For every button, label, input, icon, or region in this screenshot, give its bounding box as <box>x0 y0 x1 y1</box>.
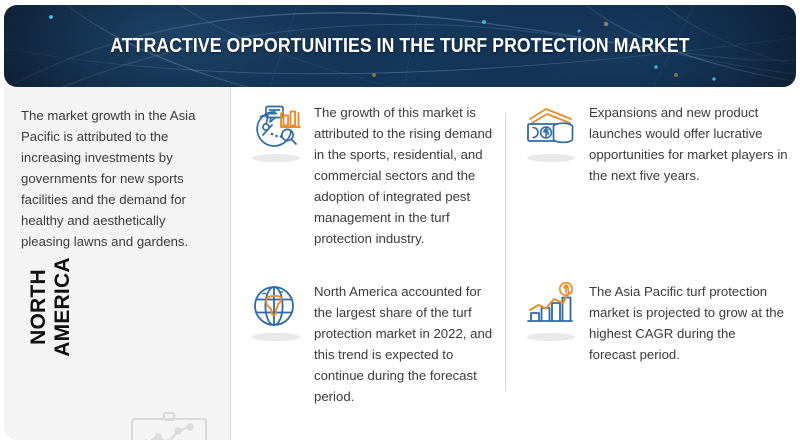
money-cash-coins-icon <box>522 101 580 157</box>
region-label: NORTH AMERICA <box>27 232 75 382</box>
growth-bar-chart-dollar-icon <box>522 280 580 336</box>
card-text: The growth of this market is attributed … <box>314 101 499 249</box>
card-text: The Asia Pacific turf protection market … <box>589 280 784 365</box>
insight-card: Expansions and new product launches woul… <box>522 101 790 186</box>
card-text: Expansions and new product launches woul… <box>589 101 789 186</box>
card-icon-wrapper <box>522 280 580 342</box>
card-text: North America accounted for the largest … <box>314 280 499 407</box>
column-divider-left <box>230 87 231 440</box>
card-icon-wrapper <box>247 101 305 163</box>
globe-icon <box>247 280 305 336</box>
column-divider-right <box>505 113 506 391</box>
header-banner: ATTRACTIVE OPPORTUNITIES IN THE TURF PRO… <box>4 5 796 87</box>
market-analysis-icon <box>247 101 305 157</box>
infographic-root: ATTRACTIVE OPPORTUNITIES IN THE TURF PRO… <box>0 0 800 444</box>
chart-board-magnifier-icon <box>120 405 224 440</box>
insight-card: The growth of this market is attributed … <box>247 101 499 249</box>
insight-card: North America accounted for the largest … <box>247 280 499 407</box>
insight-card: The Asia Pacific turf protection market … <box>522 280 790 365</box>
card-icon-wrapper <box>247 280 305 342</box>
left-column-paragraph: The market growth in the Asia Pacific is… <box>21 105 217 252</box>
card-icon-wrapper <box>522 101 580 163</box>
icon-shadow <box>527 154 575 162</box>
left-column: The market growth in the Asia Pacific is… <box>4 87 230 440</box>
content-area: The market growth in the Asia Pacific is… <box>4 87 796 440</box>
page-title: ATTRACTIVE OPPORTUNITIES IN THE TURF PRO… <box>59 5 740 87</box>
icon-shadow <box>527 333 575 341</box>
icon-shadow <box>252 154 300 162</box>
icon-shadow <box>252 333 300 341</box>
